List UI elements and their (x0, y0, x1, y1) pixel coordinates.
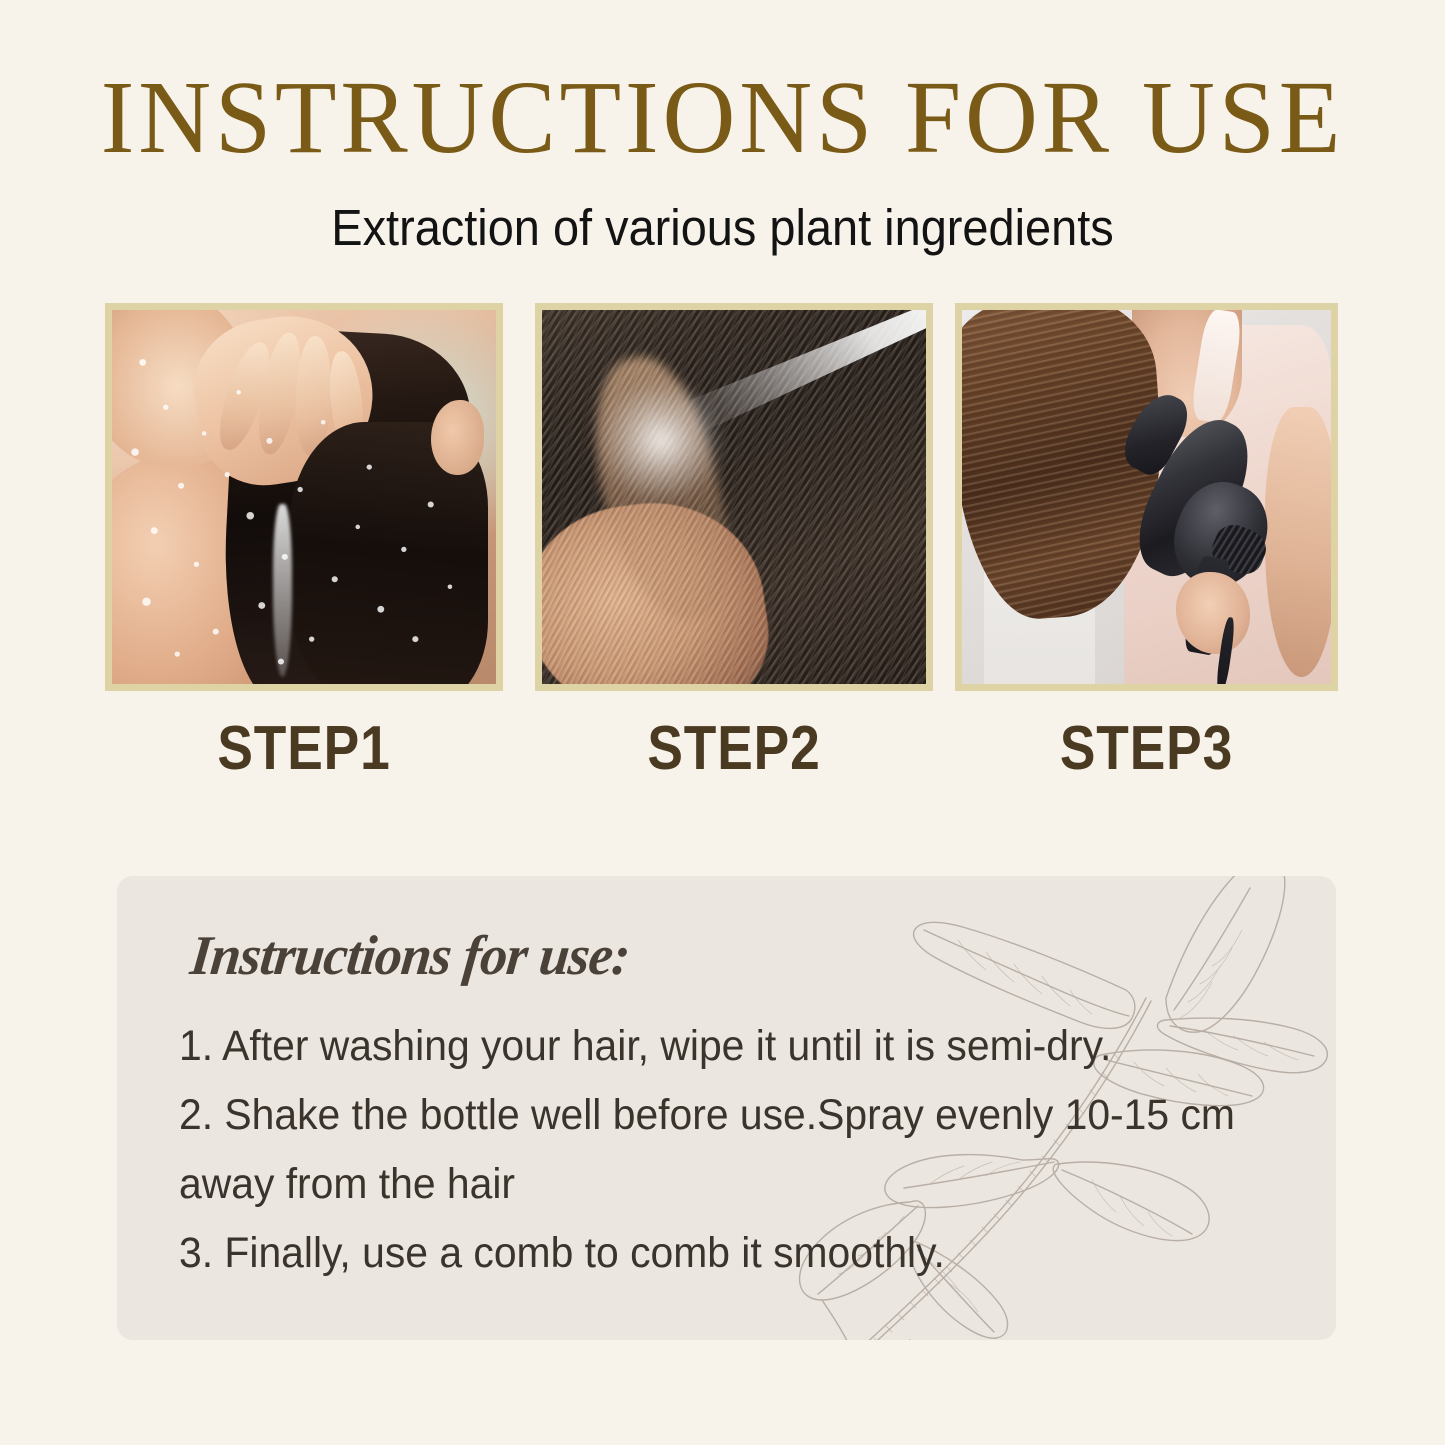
wet-hair-shampoo-photo (112, 310, 496, 684)
water-droplets-overlay (112, 310, 496, 684)
instruction-line-2: 2. Shake the bottle well before use.Spra… (179, 1081, 1234, 1150)
instruction-line-1: 1. After washing your hair, wipe it unti… (179, 1012, 1234, 1081)
photo-frame-2 (535, 303, 933, 691)
page-subtitle: Extraction of various plant ingredients (58, 198, 1387, 258)
photo-frame-3 (955, 303, 1338, 691)
step-caption-1: STEP1 (133, 715, 475, 783)
instructions-lines: 1. After washing your hair, wipe it unti… (179, 1012, 1289, 1288)
instructions-panel: Instructions for use: 1. After washing y… (117, 876, 1336, 1340)
instruction-line-3: away from the hair (179, 1150, 1234, 1219)
photo-frame-1 (105, 303, 503, 691)
page-title: INSTRUCTIONS FOR USE (22, 62, 1424, 174)
instructions-heading: Instructions for use: (188, 926, 633, 986)
step-card-2: STEP2 (535, 303, 933, 691)
instruction-line-4: 3. Finally, use a comb to comb it smooth… (179, 1219, 1234, 1288)
step-card-1: STEP1 (105, 303, 503, 691)
steps-row: STEP1 STEP2 (105, 303, 1337, 693)
step-caption-2: STEP2 (563, 715, 905, 783)
step-caption-3: STEP3 (982, 715, 1311, 783)
scalp-spray-photo (542, 310, 926, 684)
step-card-3: STEP3 (955, 303, 1338, 691)
blow-dry-photo (962, 310, 1331, 684)
